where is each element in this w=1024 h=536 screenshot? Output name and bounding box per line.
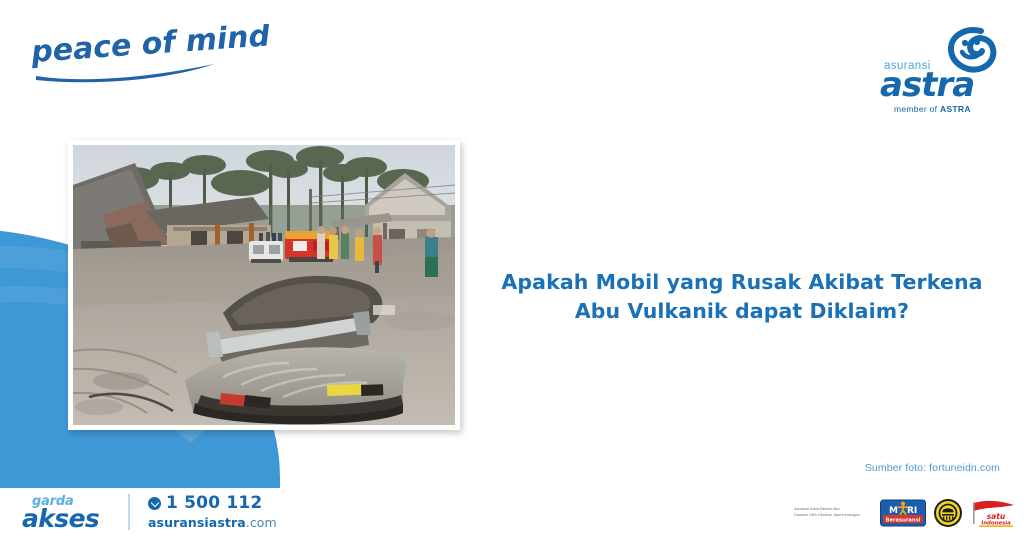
website-link[interactable]: asuransiastra.com xyxy=(148,515,277,530)
logo-astra-text: astra xyxy=(880,68,974,102)
photo-source-credit: Sumber foto: fortuneidn.com xyxy=(865,462,1000,474)
photo-card xyxy=(68,140,460,430)
contact-block: 1 500 112 asuransiastra.com xyxy=(148,495,277,530)
mari-berasuransi-badge: Berasuransi M RI xyxy=(880,498,926,528)
website-tld: .com xyxy=(246,515,277,530)
svg-text:M: M xyxy=(889,506,898,516)
phone-number[interactable]: 1 500 112 xyxy=(148,495,277,513)
headline-line-1: Apakah Mobil yang Rusak Akibat Terkena xyxy=(492,268,992,297)
keselamatan-kerja-badge xyxy=(933,498,963,528)
svg-text:Berasuransi: Berasuransi xyxy=(886,517,921,523)
asuransi-astra-logo: asuransi astra member of ASTRA xyxy=(882,24,1002,116)
tagline-text: peace of mind xyxy=(29,24,272,70)
disaster-photo xyxy=(73,145,455,425)
member-astra-label: ASTRA xyxy=(940,104,971,114)
footer-bar: garda akses 1 500 112 asuransiastra.com … xyxy=(0,488,1024,536)
phone-number-text: 1 500 112 xyxy=(166,495,262,513)
svg-text:RI: RI xyxy=(907,506,917,516)
garda-akses-logo: garda akses xyxy=(22,492,114,534)
ojk-line-2: Diawasi Oleh Otoritas Jasa Keuangan xyxy=(794,512,880,518)
peace-of-mind-tagline: peace of mind xyxy=(28,24,348,84)
footer-badges: Berasuransi M RI xyxy=(880,496,1018,530)
phone-icon xyxy=(148,497,161,510)
poster-canvas: peace of mind asuransi astra member of A… xyxy=(0,0,1024,536)
akses-label: akses xyxy=(22,506,99,531)
ojk-disclaimer: Asuransi Astra Berizin dan Diawasi Oleh … xyxy=(794,506,880,518)
logo-member-of-astra: member of ASTRA xyxy=(894,104,971,114)
satu-indonesia-badge: satu Indonesia xyxy=(970,498,1018,528)
footer-divider xyxy=(128,494,130,530)
website-name: asuransiastra xyxy=(148,515,246,530)
headline-line-2: Abu Vulkanik dapat Diklaim? xyxy=(492,297,992,326)
page-title: Apakah Mobil yang Rusak Akibat Terkena A… xyxy=(492,268,992,326)
member-of-label: member of xyxy=(894,104,940,114)
